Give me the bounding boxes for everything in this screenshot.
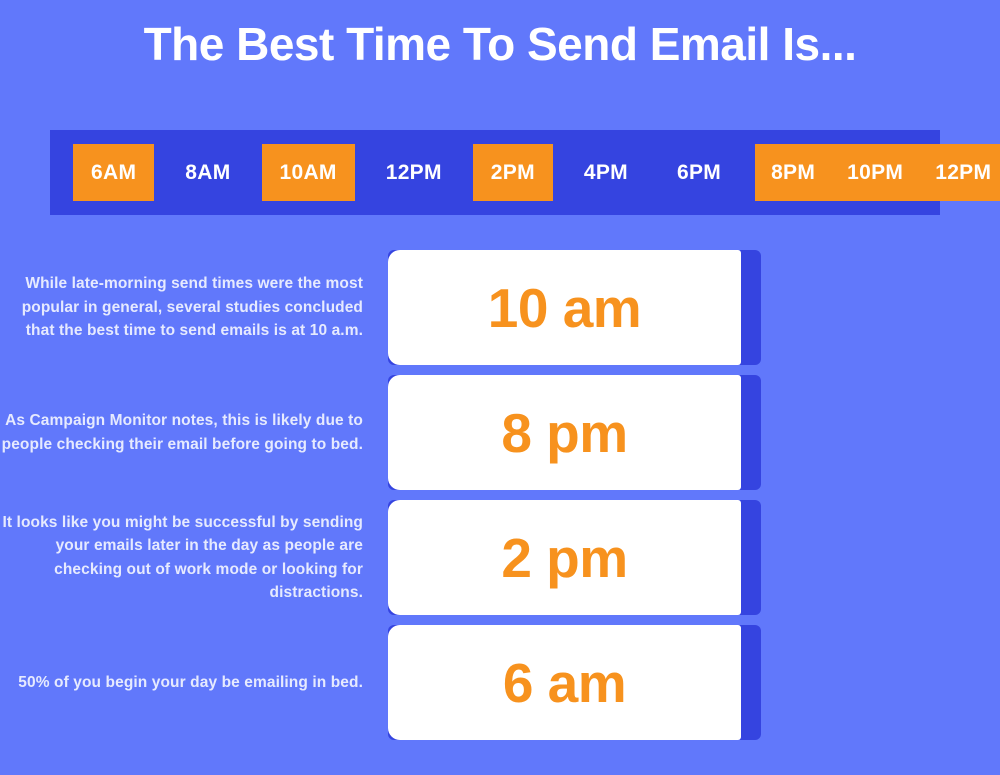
insight-row: It looks like you might be successful by… [0, 495, 1000, 620]
insight-row: While late-morning send times were the m… [0, 245, 1000, 370]
card-face: 8 pm [388, 375, 741, 490]
card-time-label: 10 am [488, 278, 641, 338]
time-card[interactable]: 6 am [388, 625, 761, 740]
insight-description: 50% of you begin your day be emailing in… [0, 671, 385, 695]
time-card[interactable]: 10 am [388, 250, 761, 365]
insight-description: It looks like you might be successful by… [0, 511, 385, 605]
timeline-gap [460, 144, 473, 201]
timeline-item-8pm[interactable]: 8PM [755, 144, 831, 201]
timeline-item-10pm[interactable]: 10PM [831, 144, 919, 201]
insight-description: While late-morning send times were the m… [0, 272, 385, 343]
timeline-gap [249, 144, 262, 201]
timeline-gap [553, 144, 566, 201]
card-time-label: 8 pm [501, 403, 627, 463]
timeline-item-6am[interactable]: 6AM [73, 144, 154, 201]
time-card[interactable]: 8 pm [388, 375, 761, 490]
timeline-item-8am[interactable]: 8AM [167, 144, 248, 201]
timeline-items: 6AM 8AM 10AM 12PM 2PM 4PM 6PM 8PM 10PM 1… [50, 144, 940, 201]
insight-row: As Campaign Monitor notes, this is likel… [0, 370, 1000, 495]
card-face: 2 pm [388, 500, 741, 615]
insight-rows: While late-morning send times were the m… [0, 245, 1000, 745]
timeline-gap [154, 144, 167, 201]
insight-row: 50% of you begin your day be emailing in… [0, 620, 1000, 745]
timeline-band: 6AM 8AM 10AM 12PM 2PM 4PM 6PM 8PM 10PM 1… [50, 130, 940, 215]
timeline-gap [739, 144, 755, 201]
card-time-label: 2 pm [501, 528, 627, 588]
card-face: 6 am [388, 625, 741, 740]
time-card[interactable]: 2 pm [388, 500, 761, 615]
timeline-item-10am[interactable]: 10AM [262, 144, 355, 201]
timeline-evening-group: 8PM 10PM 12PM [755, 144, 1000, 201]
timeline-gap [646, 144, 659, 201]
insight-description: As Campaign Monitor notes, this is likel… [0, 409, 385, 456]
timeline-gap [355, 144, 368, 201]
card-time-label: 6 am [503, 653, 626, 713]
timeline-item-6pm[interactable]: 6PM [659, 144, 739, 201]
timeline-item-12pm-pm[interactable]: 12PM [919, 144, 1000, 201]
timeline-item-2pm[interactable]: 2PM [473, 144, 553, 201]
page-title: The Best Time To Send Email Is... [0, 14, 1000, 74]
timeline-item-12pm[interactable]: 12PM [368, 144, 460, 201]
timeline-item-4pm[interactable]: 4PM [566, 144, 646, 201]
card-face: 10 am [388, 250, 741, 365]
